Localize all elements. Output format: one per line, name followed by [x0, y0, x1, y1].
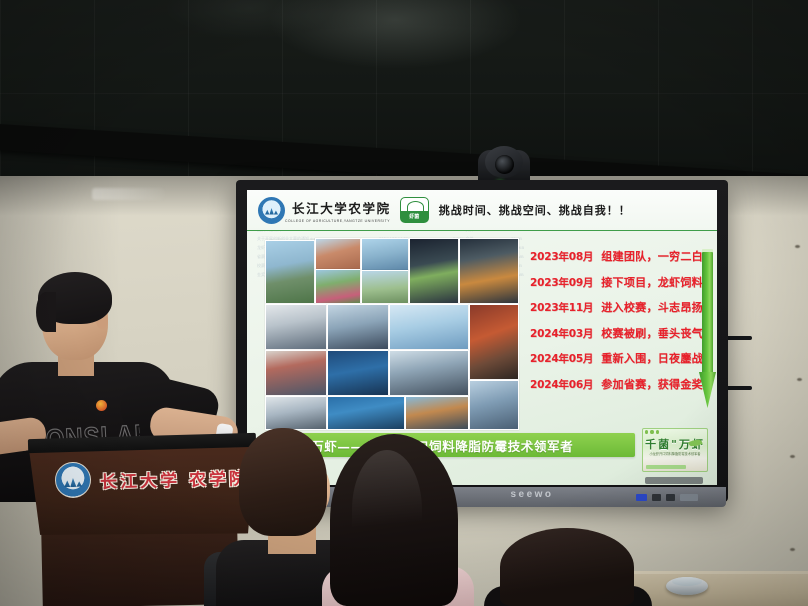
- collage-photo: [327, 350, 389, 396]
- audience-member-front-left-hair: [239, 428, 327, 536]
- wall-fixture-dot: [795, 245, 800, 248]
- display-speaker-grille: [645, 477, 703, 484]
- timeline-text: 进入校赛，斗志昂扬: [601, 299, 703, 315]
- wall-fixture-dot: [790, 455, 795, 458]
- conference-speaker-puck-top: [672, 577, 702, 586]
- timeline-row: 2024年03月校赛被刷，垂头丧气: [530, 325, 696, 341]
- product-card-subtitle: 小龙虾开口饲料降脂防霉技术领军者: [643, 451, 707, 456]
- tv-wall-bracket-arm: [726, 386, 752, 390]
- wall-fixture-dot: [797, 378, 802, 381]
- collage-photo: [327, 396, 405, 430]
- timeline-date: 2023年09月: [530, 275, 593, 290]
- display-brand-label: seewo: [497, 489, 567, 504]
- collage-photo: [265, 350, 327, 396]
- timeline-row: 2024年05月重新入围，日夜鏖战: [530, 350, 696, 366]
- collage-photo: [327, 304, 389, 350]
- timeline-row: 2023年09月接下项目，龙虾饲料: [530, 274, 696, 290]
- collage-photo: [315, 269, 361, 304]
- collage-photo: [361, 270, 409, 304]
- slide-bottom-banner: 千菌万虾——小龙虾开口饲料降脂防霉技术领军者: [275, 433, 635, 457]
- hdmi-port[interactable]: [666, 494, 675, 501]
- collage-photo: [361, 238, 409, 271]
- slide-slogan: 挑战时间、挑战空间、挑战自我！！: [439, 202, 631, 218]
- timeline-date: 2024年06月: [530, 377, 593, 392]
- collage-photo: [265, 240, 315, 304]
- audience-member-front-center-hair-highlight: [352, 450, 422, 570]
- project-logo-text: 虾菌: [401, 213, 428, 222]
- timeline-date: 2024年05月: [530, 351, 593, 366]
- timeline-row: 2023年08月组建团队，一穷二白: [530, 248, 696, 264]
- collage-photo: [389, 304, 469, 350]
- timeline-text: 参加省赛，获得金奖: [601, 376, 703, 392]
- display-ports[interactable]: [636, 491, 726, 503]
- tv-wall-bracket-arm: [726, 336, 752, 340]
- camera-lens-icon: [495, 155, 514, 174]
- collage-photo: [265, 304, 327, 350]
- product-brand-card: 千菌"万虾 小龙虾开口饲料降脂防霉技术领军者: [642, 428, 708, 472]
- wall-fixture-dot: [790, 548, 795, 551]
- timeline-row: 2024年06月参加省赛，获得金奖: [530, 376, 696, 392]
- photo-collage: [265, 238, 523, 428]
- timeline-text: 校赛被刷，垂头丧气: [601, 325, 703, 341]
- product-card-bar: [646, 465, 686, 469]
- usb-port[interactable]: [636, 494, 647, 501]
- podium-label: 长江大学 农学院: [100, 464, 251, 493]
- slide-header: 长江大学农学院 COLLEGE OF AGRICULTURE,YANGTZE U…: [247, 190, 717, 231]
- timeline-row: 2023年11月进入校赛，斗志昂扬: [530, 299, 696, 315]
- network-port[interactable]: [680, 494, 698, 501]
- collage-photo: [409, 238, 459, 304]
- project-logo-icon: 虾菌: [400, 197, 429, 223]
- usb-port[interactable]: [652, 494, 661, 501]
- university-name-cn: 长江大学农学院: [292, 198, 391, 217]
- timeline-text: 组建团队，一穷二白: [601, 248, 703, 264]
- timeline-date: 2023年11月: [530, 300, 593, 315]
- wall-scuff-mark: [92, 188, 164, 200]
- collage-photo: [469, 304, 519, 380]
- display-screen[interactable]: 项目登记.docx2024/3/15 12:01DOCX 文件65 KB团队介绍…: [247, 190, 717, 485]
- timeline-text: 重新入围，日夜鏖战: [601, 350, 703, 366]
- presenter-hair-side: [36, 292, 56, 332]
- timeline-date: 2023年08月: [530, 249, 593, 264]
- green-down-arrow-icon: [699, 252, 716, 408]
- classroom-photo-scene: 项目登记.docx2024/3/15 12:01DOCX 文件65 KB团队介绍…: [0, 0, 808, 606]
- presentation-slide: 项目登记.docx2024/3/15 12:01DOCX 文件65 KB团队介绍…: [247, 190, 717, 485]
- collage-photo: [315, 238, 361, 270]
- audience-member-front-right-hair: [500, 528, 634, 606]
- timeline-date: 2024年03月: [530, 326, 593, 341]
- collage-photo: [459, 238, 519, 304]
- timeline-text: 接下项目，龙虾饲料: [601, 274, 703, 290]
- collage-photo: [389, 350, 469, 396]
- collage-photo: [405, 396, 469, 430]
- collage-photo: [265, 396, 327, 430]
- milestone-timeline: 2023年08月组建团队，一穷二白2023年09月接下项目，龙虾饲料2023年1…: [530, 248, 696, 401]
- collage-photo: [469, 380, 519, 430]
- university-emblem-icon: [258, 197, 285, 224]
- university-name-en: COLLEGE OF AGRICULTURE,YANGTZE UNIVERSIT…: [285, 219, 391, 223]
- presenter-badge-pin: [96, 400, 107, 411]
